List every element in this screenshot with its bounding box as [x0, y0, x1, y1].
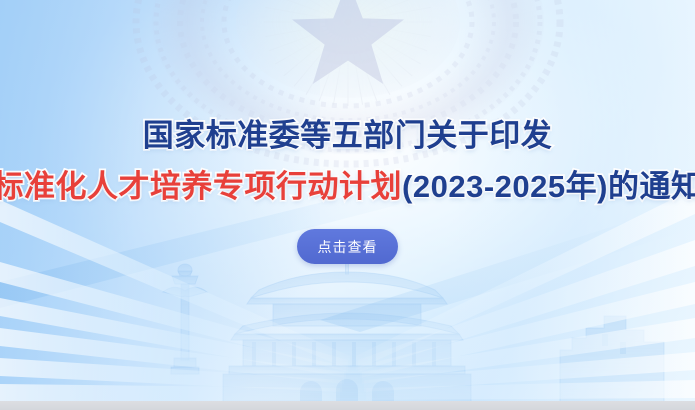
policy-announcement-banner: 国家标准委等五部门关于印发 标准化人才培养专项行动计划(2023-2025年)的…: [0, 0, 695, 410]
banner-content: 国家标准委等五部门关于印发 标准化人才培养专项行动计划(2023-2025年)的…: [0, 0, 695, 410]
banner-title-highlight: 标准化人才培养专项行动计划: [0, 169, 402, 204]
view-details-button[interactable]: 点击查看: [297, 229, 398, 264]
banner-title-suffix: (2023-2025年)的通知: [402, 169, 695, 204]
banner-title-line-2: 标准化人才培养专项行动计划(2023-2025年)的通知: [0, 171, 695, 202]
banner-title-line-1: 国家标准委等五部门关于印发: [143, 120, 553, 151]
